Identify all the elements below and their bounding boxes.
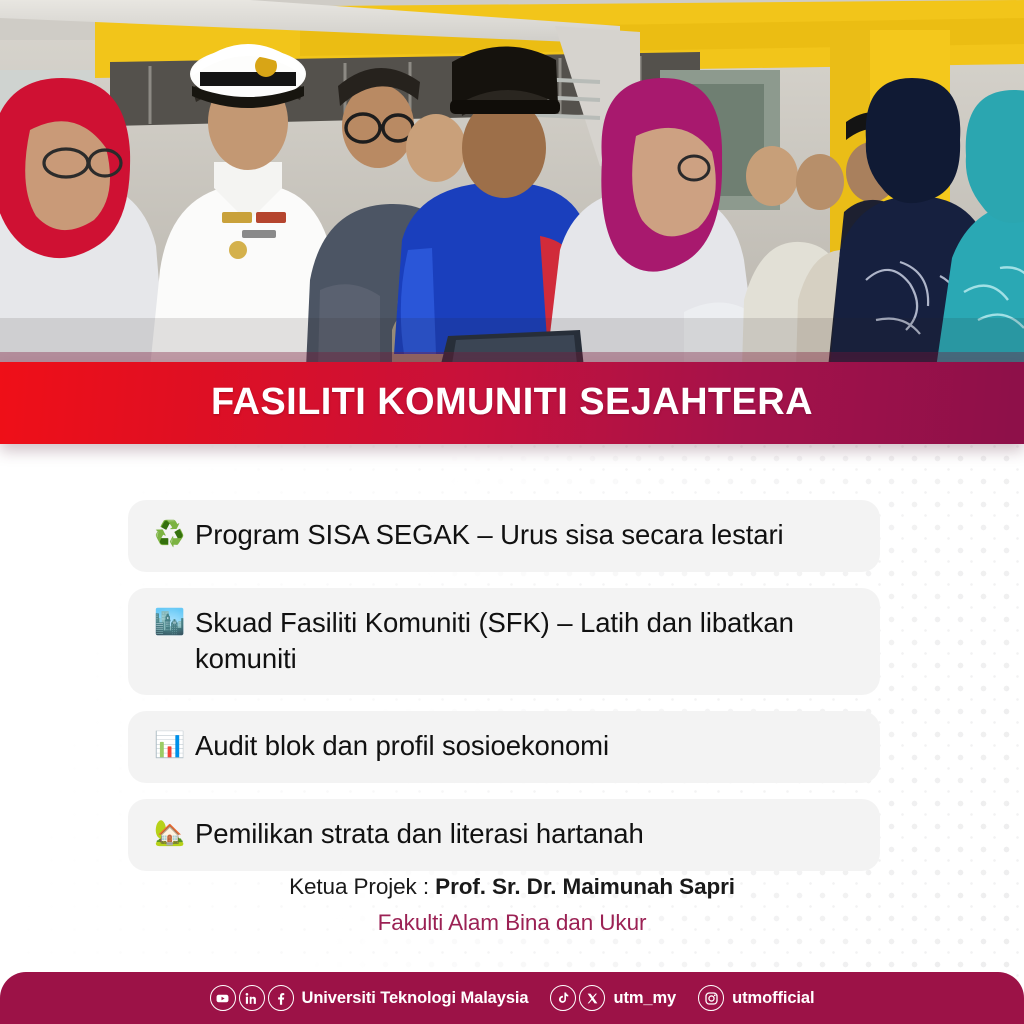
cityscape-icon: 🏙️ <box>154 605 185 638</box>
facebook-icon[interactable] <box>268 985 294 1011</box>
project-credits: Ketua Projek : Prof. Sr. Dr. Maimunah Sa… <box>0 872 1024 939</box>
list-item-label: Program SISA SEGAK – Urus sisa secara le… <box>195 517 854 553</box>
poster-canvas: FASILITI KOMUNITI SEJAHTERA ♻️ Program S… <box>0 0 1024 1024</box>
tiktok-icon[interactable] <box>550 985 576 1011</box>
list-item-label: Skuad Fasiliti Komuniti (SFK) – Latih da… <box>195 605 854 677</box>
social-handle[interactable]: utmofficial <box>732 989 814 1008</box>
project-lead-name: Prof. Sr. Dr. Maimunah Sapri <box>435 874 735 899</box>
house-with-garden-icon: 🏡 <box>154 816 185 849</box>
project-lead-label: Ketua Projek : <box>289 874 435 899</box>
bar-chart-icon: 📊 <box>154 728 185 761</box>
social-handle[interactable]: Universiti Teknologi Malaysia <box>302 989 529 1008</box>
youtube-icon[interactable] <box>210 985 236 1011</box>
project-lead-line: Ketua Projek : Prof. Sr. Dr. Maimunah Sa… <box>0 872 1024 902</box>
list-item: 🏡 Pemilikan strata dan literasi hartanah <box>128 799 880 871</box>
social-group-utm: Universiti Teknologi Malaysia <box>210 985 529 1011</box>
social-handle[interactable]: utm_my <box>613 989 676 1008</box>
instagram-icon[interactable] <box>698 985 724 1011</box>
list-item: 🏙️ Skuad Fasiliti Komuniti (SFK) – Latih… <box>128 588 880 696</box>
recycle-icon: ♻️ <box>154 517 185 550</box>
title-banner: FASILITI KOMUNITI SEJAHTERA <box>0 362 1024 444</box>
list-item-label: Audit blok dan profil sosioekonomi <box>195 728 854 764</box>
linkedin-icon[interactable] <box>239 985 265 1011</box>
list-item: 📊 Audit blok dan profil sosioekonomi <box>128 711 880 783</box>
list-item: ♻️ Program SISA SEGAK – Urus sisa secara… <box>128 500 880 572</box>
list-item-label: Pemilikan strata dan literasi hartanah <box>195 816 854 852</box>
x-icon[interactable] <box>579 985 605 1011</box>
social-group-utmofficial: utmofficial <box>698 985 814 1011</box>
faculty-name: Fakulti Alam Bina dan Ukur <box>0 908 1024 938</box>
event-photo <box>0 0 1024 368</box>
highlight-list: ♻️ Program SISA SEGAK – Urus sisa secara… <box>128 500 880 871</box>
page-title: FASILITI KOMUNITI SEJAHTERA <box>211 383 813 423</box>
social-footer: Universiti Teknologi Malaysia utm_my <box>0 972 1024 1024</box>
social-group-utm-my: utm_my <box>550 985 676 1011</box>
